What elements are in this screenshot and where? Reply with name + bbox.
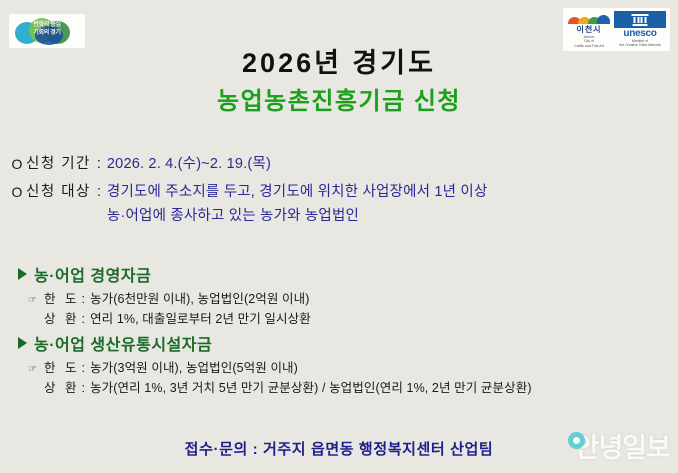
fund-line-limit: ☞ 한 도 : 농가(3억원 이내), 농업법인(5억원 이내) [28,359,672,379]
fund-line-value: 농가(연리 1%, 3년 거치 5년 만기 균분상환) / 농업법인(연리 1%… [90,379,532,398]
temple-column [634,17,636,23]
gyeonggi-province-logo: 변화의 중심 기회의 경기 [9,14,85,48]
arc-blue [597,15,610,24]
info-value-line1: 경기도에 주소지를 두고, 경기도에 위치한 사업장에서 1년 이상 [107,184,488,200]
fund-detail-list: ☞ 한 도 : 농가(6천만원 이내), 농업법인(2억원 이내) 상 환 : … [28,290,672,329]
fund-line-value: 연리 1%, 대출일로부터 2년 만기 일시상환 [90,310,311,329]
info-value: 경기도에 주소지를 두고, 경기도에 위치한 사업장에서 1년 이상 농·어업에… [107,180,488,228]
fund-line-repayment: 상 환 : 농가(연리 1%, 3년 거치 5년 만기 균분상환) / 농업법인… [28,379,672,398]
fund-line-label: 상 환 [44,310,79,329]
unesco-logo: unesco Member of the Creative Cities Net… [614,11,666,47]
fund-line-label: 한 도 [44,290,79,309]
info-value-line2: 농·어업에 종사하고 있는 농가와 농업법인 [107,204,488,228]
icheon-city-label: 이천시 [567,25,611,34]
fund-sections: 농·어업 경영자금 ☞ 한 도 : 농가(6천만원 이내), 농업법인(2억원 … [18,266,672,404]
temple-column [637,17,639,23]
info-label: 신청 기간 [26,152,91,176]
info-value: 2026. 2. 4.(수)~2. 19.(목) [107,152,271,176]
triangle-bullet-icon [18,337,27,349]
info-colon: : [91,152,107,176]
info-label: 신청 대상 [26,180,91,204]
fund-detail-list: ☞ 한 도 : 농가(3억원 이내), 농업법인(5억원 이내) 상 환 : 농… [28,359,672,398]
info-row-eligibility: O 신청 대상 : 경기도에 주소지를 두고, 경기도에 위치한 사업장에서 1… [8,180,672,228]
fund-section-management: 농·어업 경영자금 ☞ 한 도 : 농가(6천만원 이내), 농업법인(2억원 … [18,266,672,329]
fund-line-label: 한 도 [44,359,79,378]
fund-heading: 농·어업 경영자금 [18,266,672,288]
info-list: O 신청 기간 : 2026. 2. 4.(수)~2. 19.(목) O 신청 … [8,152,672,232]
title-block: 2026년 경기도 농업농촌진흥기금 신청 [0,46,678,118]
triangle-bullet-icon [18,268,27,280]
footer-contact: 접수·문의 : 거주지 읍면동 행정복지센터 산업팀 [0,438,678,459]
icheon-arcs-icon [567,11,611,24]
fund-line-colon: : [79,290,90,309]
fund-line-repayment: 상 환 : 연리 1%, 대출일로부터 2년 만기 일시상환 [28,310,672,329]
unesco-wordmark: unesco [614,28,666,39]
pointing-hand-icon: ☞ [28,291,44,310]
unesco-banner [614,11,666,28]
circle-bullet-icon: O [8,180,26,204]
page-title-line2: 농업농촌진흥기금 신청 [0,86,678,118]
info-colon: : [91,180,107,204]
temple-roof [632,14,649,16]
fund-line-label: 상 환 [44,379,79,398]
poster-canvas: 변화의 중심 기회의 경기 이천시 Icheon City of Crafts … [0,0,678,473]
fund-line-value: 농가(3억원 이내), 농업법인(5억원 이내) [90,359,298,378]
circle-bullet-icon: O [8,152,26,176]
fund-heading-label: 농·어업 경영자금 [34,266,151,288]
fund-line-colon: : [79,379,90,398]
fund-line-limit: ☞ 한 도 : 농가(6천만원 이내), 농업법인(2억원 이내) [28,290,672,310]
temple-icon [632,14,649,25]
fund-section-production-distribution: 농·어업 생산유통시설자금 ☞ 한 도 : 농가(3억원 이내), 농업법인(5… [18,335,672,398]
temple-columns [634,17,647,23]
fund-line-colon: : [79,310,90,329]
temple-column [644,17,646,23]
fund-line-colon: : [79,359,90,378]
gyeonggi-logo-text: 변화의 중심 기회의 경기 [9,21,85,37]
pointing-hand-icon: ☞ [28,360,44,379]
icheon-city-logo: 이천시 Icheon City of Crafts and Folk Art [567,11,611,48]
temple-column [641,17,643,23]
top-right-logo-group: 이천시 Icheon City of Crafts and Folk Art u… [563,8,670,51]
fund-line-value: 농가(6천만원 이내), 농업법인(2억원 이내) [90,290,309,309]
page-title-line1: 2026년 경기도 [0,46,678,80]
info-row-application-period: O 신청 기간 : 2026. 2. 4.(수)~2. 19.(목) [8,152,672,176]
fund-heading-label: 농·어업 생산유통시설자금 [34,335,212,357]
fund-heading: 농·어업 생산유통시설자금 [18,335,672,357]
temple-base [633,24,648,26]
